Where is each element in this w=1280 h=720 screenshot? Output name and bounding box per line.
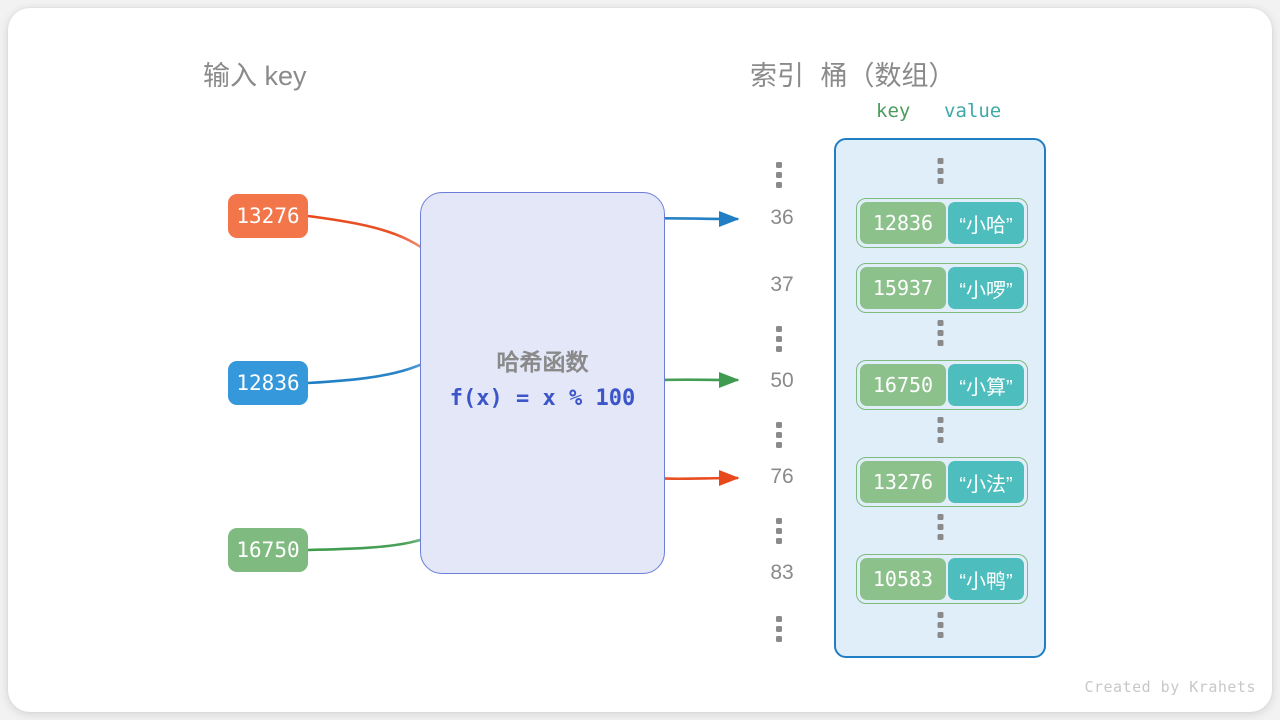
entry-value: “小鸭”	[948, 558, 1024, 600]
entry-value: “小法”	[948, 461, 1024, 503]
header-bucket: 桶（数组）	[821, 54, 956, 93]
bucket-array: 12836“小哈”15937“小啰”16750“小算”13276“小法”1058…	[834, 138, 1046, 658]
bucket-entry[interactable]: 16750“小算”	[856, 360, 1028, 410]
index-ellipsis-icon	[775, 422, 782, 448]
bucket-ellipsis-icon	[937, 320, 944, 346]
bucket-entry[interactable]: 15937“小啰”	[856, 263, 1028, 313]
entry-value: “小啰”	[948, 267, 1024, 309]
index-ellipsis-icon	[775, 162, 782, 188]
index-ellipsis-icon	[775, 326, 782, 352]
bucket-ellipsis-icon	[937, 514, 944, 540]
input-key-box-12836[interactable]: 12836	[228, 361, 308, 405]
entry-key: 13276	[860, 461, 946, 503]
entry-key: 16750	[860, 364, 946, 406]
index-value: 50	[762, 369, 802, 393]
bucket-ellipsis-icon	[937, 417, 944, 443]
bucket-ellipsis-icon	[937, 158, 944, 184]
label-value-column: value	[944, 100, 1001, 122]
index-ellipsis-icon	[775, 518, 782, 544]
entry-value: “小哈”	[948, 202, 1024, 244]
entry-key: 15937	[860, 267, 946, 309]
index-value: 76	[762, 465, 802, 489]
hash-function-formula: f(x) = x % 100	[421, 386, 664, 411]
label-key-column: key	[876, 100, 910, 122]
diagram-canvas: 输入 key 索引 桶（数组） key value 13276 12836 16…	[0, 0, 1280, 720]
watermark: Created by Krahets	[1084, 678, 1256, 696]
entry-key: 12836	[860, 202, 946, 244]
entry-key: 10583	[860, 558, 946, 600]
index-value: 37	[762, 273, 802, 297]
hash-function-box: 哈希函数 f(x) = x % 100	[420, 192, 665, 574]
hash-function-title: 哈希函数	[421, 343, 664, 377]
entry-value: “小算”	[948, 364, 1024, 406]
input-key-box-16750[interactable]: 16750	[228, 528, 308, 572]
bucket-ellipsis-icon	[937, 612, 944, 638]
header-index: 索引	[750, 54, 804, 93]
index-ellipsis-icon	[775, 616, 782, 642]
bucket-entry[interactable]: 12836“小哈”	[856, 198, 1028, 248]
index-value: 83	[762, 561, 802, 585]
bucket-entry[interactable]: 10583“小鸭”	[856, 554, 1028, 604]
input-key-box-13276[interactable]: 13276	[228, 194, 308, 238]
bucket-entry[interactable]: 13276“小法”	[856, 457, 1028, 507]
index-value: 36	[762, 206, 802, 230]
header-input-key: 输入 key	[203, 54, 307, 93]
